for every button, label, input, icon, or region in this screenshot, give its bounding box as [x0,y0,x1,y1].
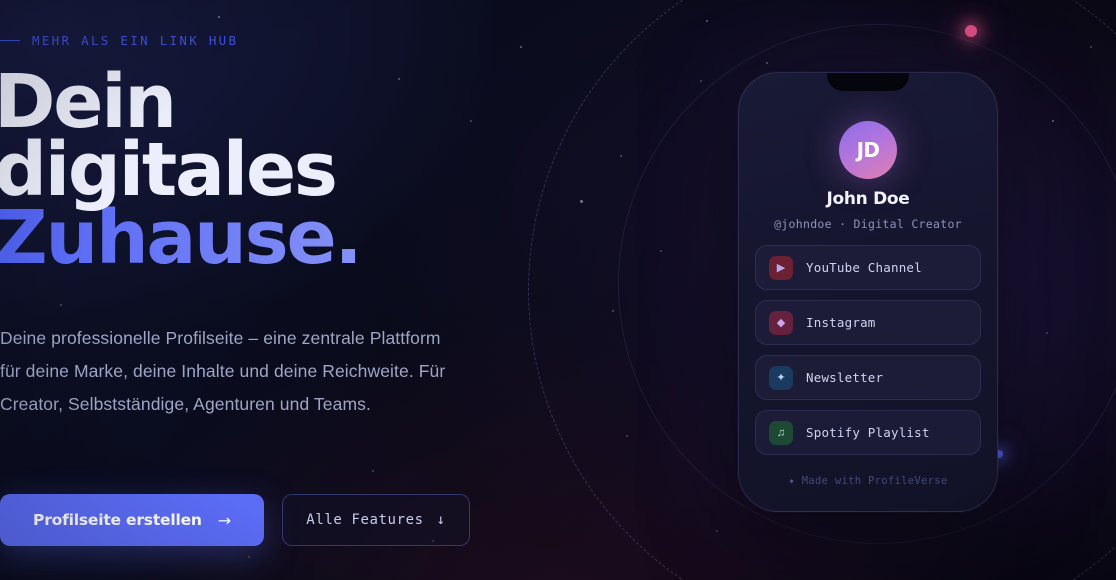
link-list: ▶ YouTube Channel ◆ Instagram ✦ Newslett… [755,245,981,455]
cta-row: Profilseite erstellen → Alle Features ↓ [0,494,470,546]
star [706,20,708,22]
create-profile-button[interactable]: Profilseite erstellen → [0,494,264,546]
profile-handle: @johndoe · Digital Creator [739,217,997,231]
list-item[interactable]: ✦ Newsletter [755,355,981,400]
play-icon: ▶ [769,256,793,280]
star [620,155,622,157]
all-features-label: Alle Features [306,512,423,528]
avatar: JD [839,121,897,179]
hero-stage: MEHR ALS EIN LINK HUB Dein digitales Zuh… [0,0,1116,580]
phone-mockup: JD John Doe @johndoe · Digital Creator ▶… [738,72,998,512]
star [1052,120,1054,122]
star [612,310,614,312]
eyebrow-label: MEHR ALS EIN LINK HUB [32,33,238,48]
star [626,435,628,437]
arrow-right-icon: → [218,511,231,530]
hero-copy-column: MEHR ALS EIN LINK HUB Dein digitales Zuh… [0,0,600,580]
phone-notch [827,72,909,91]
profile-name: John Doe [739,189,997,209]
star [716,530,718,532]
made-with-label: Made with ProfileVerse [802,475,948,487]
music-note-icon: ♫ [769,421,793,445]
star [1046,332,1048,334]
link-label: Newsletter [806,370,883,385]
camera-icon: ◆ [769,311,793,335]
orbit-dot-pink [965,25,977,37]
made-with-footer: ✦ Made with ProfileVerse [739,475,997,487]
star [700,80,702,82]
create-profile-label: Profilseite erstellen [33,511,202,529]
headline-line-3: Zuhause. [0,204,614,272]
link-label: YouTube Channel [806,260,922,275]
list-item[interactable]: ♫ Spotify Playlist [755,410,981,455]
list-item[interactable]: ◆ Instagram [755,300,981,345]
list-item[interactable]: ▶ YouTube Channel [755,245,981,290]
all-features-button[interactable]: Alle Features ↓ [282,494,470,546]
hero-subtext: Deine professionelle Profilseite – eine … [0,322,450,421]
page-title: Dein digitales Zuhause. [0,68,614,272]
star [766,62,768,64]
link-label: Instagram [806,315,876,330]
sparkle-icon: ✦ [769,366,793,390]
headline-line-2: digitales [0,136,614,204]
star [660,250,662,252]
eyebrow-rule [0,40,20,41]
headline-line-1: Dein [0,68,614,136]
eyebrow: MEHR ALS EIN LINK HUB [0,33,238,48]
sparkle-icon: ✦ [789,475,796,487]
arrow-down-icon: ↓ [437,512,446,528]
star [1090,46,1092,48]
link-label: Spotify Playlist [806,425,930,440]
